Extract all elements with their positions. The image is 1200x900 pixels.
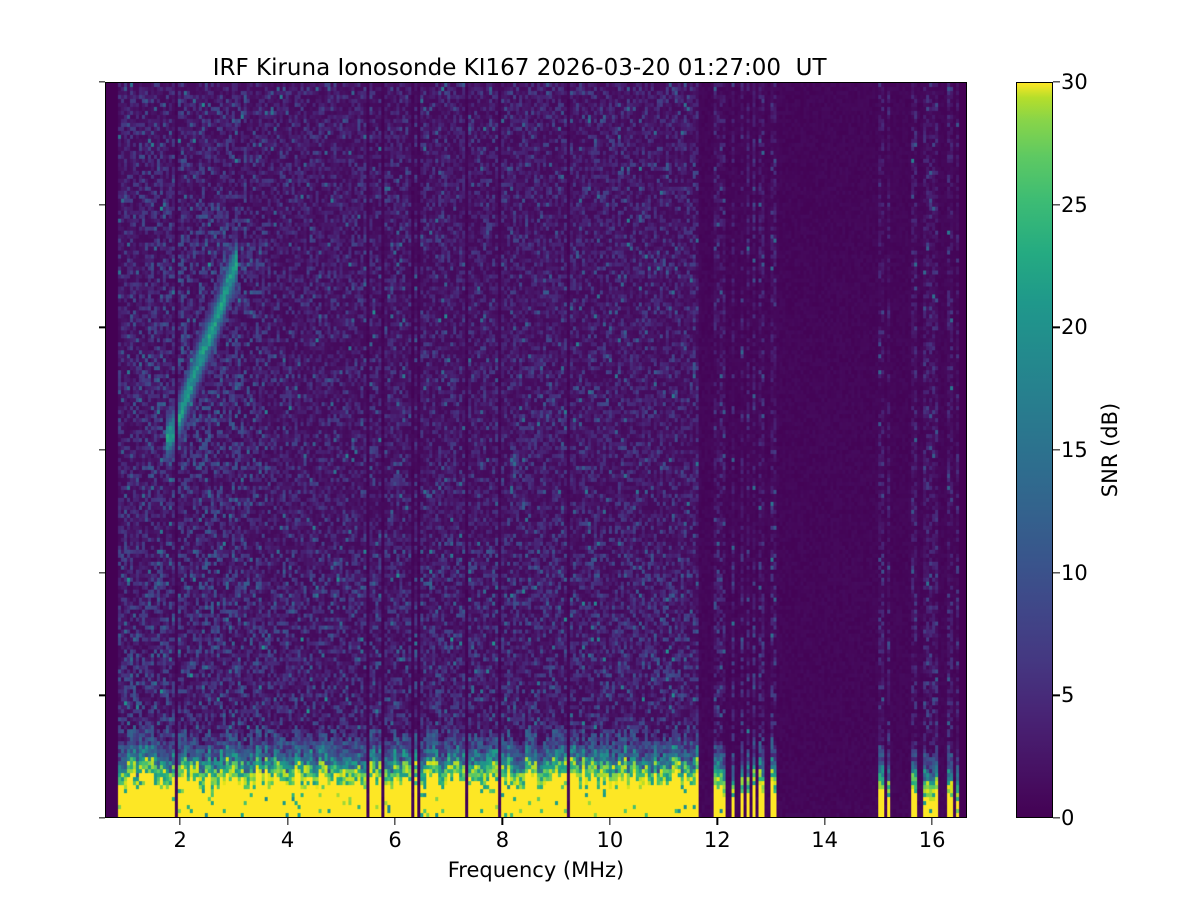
colorbar-tick-mark — [1053, 81, 1060, 82]
x-tick-mark — [502, 818, 503, 825]
x-tick-mark — [717, 818, 718, 825]
x-tick-mark — [609, 818, 610, 825]
x-tick-label: 8 — [496, 828, 509, 852]
x-tick-label: 2 — [174, 828, 187, 852]
x-axis-label: Frequency (MHz) — [448, 858, 624, 882]
ionogram-figure: IRF Kiruna Ionosonde KI167 2026-03-20 01… — [0, 0, 1200, 900]
x-tick-label: 16 — [919, 828, 946, 852]
colorbar-tick-mark — [1053, 695, 1060, 696]
colorbar-tick-label: 10 — [1061, 561, 1088, 585]
x-tick-mark — [287, 818, 288, 825]
colorbar-gradient — [1016, 82, 1053, 818]
x-tick-label: 10 — [596, 828, 623, 852]
colorbar-tick-label: 0 — [1061, 806, 1074, 830]
colorbar-tick-label: 15 — [1061, 438, 1088, 462]
x-tick-label: 6 — [388, 828, 401, 852]
colorbar-tick-mark — [1053, 204, 1060, 205]
colorbar-tick-mark — [1053, 817, 1060, 818]
x-tick-label: 4 — [281, 828, 294, 852]
colorbar-tick-mark — [1053, 572, 1060, 573]
x-tick-mark — [180, 818, 181, 825]
x-tick-label: 14 — [811, 828, 838, 852]
colorbar-label: SNR (dB) — [1098, 403, 1122, 497]
x-tick-label: 12 — [704, 828, 731, 852]
colorbar-tick-label: 20 — [1061, 315, 1088, 339]
colorbar-tick-label: 25 — [1061, 193, 1088, 217]
ionogram-heatmap-canvas — [106, 83, 966, 817]
x-tick-mark — [394, 818, 395, 825]
colorbar-tick-label: 30 — [1061, 70, 1088, 94]
plot-area — [105, 82, 967, 818]
colorbar-tick-mark — [1053, 327, 1060, 328]
x-tick-mark — [931, 818, 932, 825]
title-line-1: IRF Kiruna Ionosonde KI167 2026-03-20 01… — [213, 55, 827, 81]
colorbar-tick-mark — [1053, 449, 1060, 450]
x-tick-mark — [824, 818, 825, 825]
colorbar-tick-label: 5 — [1061, 683, 1074, 707]
